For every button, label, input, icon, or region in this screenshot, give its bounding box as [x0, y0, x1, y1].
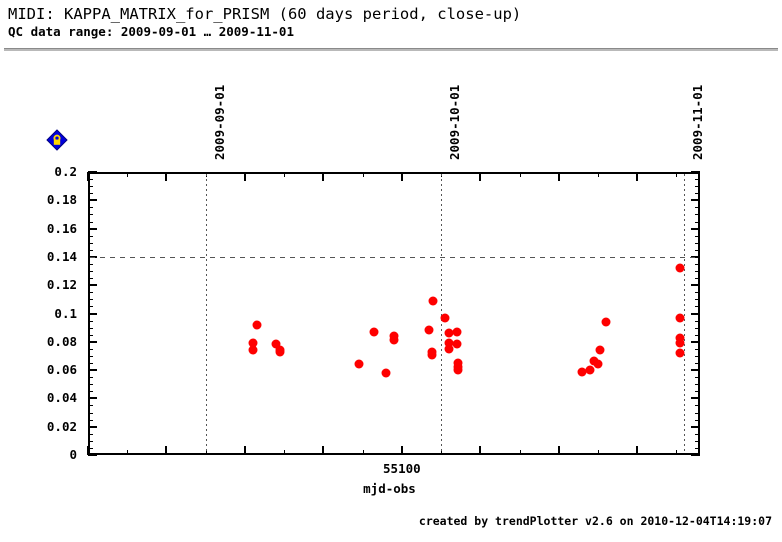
date-marker-label: 2009-10-01 — [447, 85, 462, 160]
header-divider — [4, 48, 778, 51]
y-axis-tick-label-wrap: 0.12 — [0, 279, 82, 291]
y-axis-tick-label: 0.14 — [0, 251, 82, 263]
plot-frame — [88, 172, 700, 455]
y-axis-tick-label-wrap: 0.08 — [0, 336, 82, 348]
y-axis-tick-label: 0.08 — [0, 336, 82, 348]
y-axis-tick-label: 0.18 — [0, 194, 82, 206]
blue-diamond-ok-icon[interactable] — [46, 129, 68, 151]
y-axis-tick-label-wrap: 0.04 — [0, 392, 82, 404]
x-axis-title-text: mjd-obs — [363, 481, 416, 496]
x-axis-tick-label: 55100 — [383, 461, 421, 476]
plot-page: MIDI: KAPPA_MATRIX_for_PRISM (60 days pe… — [0, 0, 782, 542]
date-marker-label: 2009-09-01 — [212, 85, 227, 160]
page-header: MIDI: KAPPA_MATRIX_for_PRISM (60 days pe… — [8, 4, 774, 40]
blue-diamond-ok-icon-svg — [46, 129, 68, 151]
y-axis-tick-label: 0.12 — [0, 279, 82, 291]
y-axis-tick-label-wrap: 0.06 — [0, 364, 82, 376]
y-axis-tick-label: 0.16 — [0, 223, 82, 235]
y-axis-tick-label: 0 — [0, 449, 82, 461]
date-marker-label: 2009-11-01 — [690, 85, 705, 160]
y-axis-tick-label-wrap: 0.1 — [0, 308, 82, 320]
y-axis-tick-label-wrap: 0.02 — [0, 421, 82, 433]
page-title: MIDI: KAPPA_MATRIX_for_PRISM (60 days pe… — [8, 4, 774, 24]
y-axis-tick-label: 0.04 — [0, 392, 82, 404]
qc-data-range: QC data range: 2009-09-01 … 2009-11-01 — [8, 24, 774, 40]
y-axis-tick-label: 0.06 — [0, 364, 82, 376]
y-axis-tick-label-wrap: 0 — [0, 449, 82, 461]
y-axis-tick-label: 0.02 — [0, 421, 82, 433]
x-axis-title: mjd-obs — [0, 481, 782, 496]
footer-credit: created by trendPlotter v2.6 on 2010-12-… — [419, 514, 772, 528]
y-axis-tick-label: 0.1 — [0, 308, 82, 320]
y-axis-tick-label-wrap: 0.2 — [0, 166, 82, 178]
y-axis-tick-label-wrap: 0.14 — [0, 251, 82, 263]
y-axis-tick-label-wrap: 0.18 — [0, 194, 82, 206]
y-axis-tick-label-wrap: 0.16 — [0, 223, 82, 235]
y-axis-tick-label: 0.2 — [0, 166, 82, 178]
